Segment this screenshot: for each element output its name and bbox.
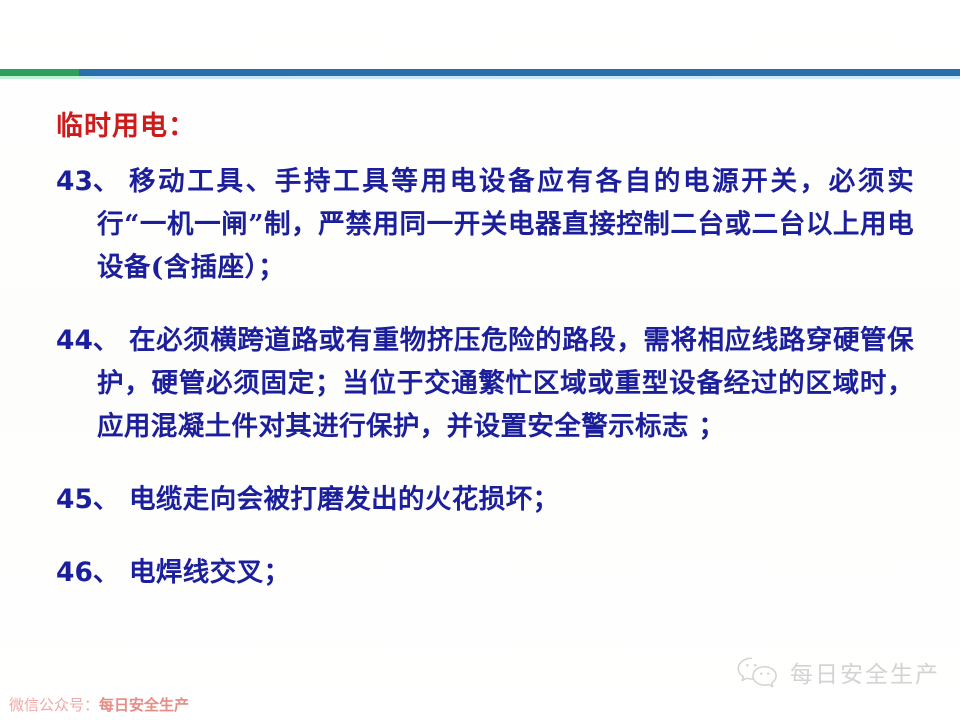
list-item-number: 46、 — [56, 551, 119, 594]
list-item-text: 电焊线交叉； — [52, 551, 914, 594]
section-heading: 临时用电： — [56, 104, 196, 143]
slide-canvas: 临时用电： 43、 移动工具、手持工具等用电设备应有各自的电源开关，必须实行“一… — [0, 0, 960, 720]
list-item-number: 44、 — [56, 319, 119, 362]
list-item-text: 移动工具、手持工具等用电设备应有各自的电源开关，必须实行“一机一闸”制，严禁用同… — [52, 160, 914, 289]
header-divider — [0, 68, 960, 79]
divider-blue-segment — [0, 69, 960, 76]
wechat-icon — [735, 655, 781, 689]
list-item: 45、 电缆走向会被打磨发出的火花损坏； — [52, 478, 914, 521]
watermark-prefix: 微信公众号： — [9, 696, 99, 714]
wechat-badge: 每日安全生产 — [735, 655, 940, 689]
watermark-account-name: 每日安全生产 — [99, 696, 189, 714]
divider-green-segment — [0, 69, 79, 76]
list-item-number: 43、 — [56, 160, 119, 203]
numbered-list: 43、 移动工具、手持工具等用电设备应有各自的电源开关，必须实行“一机一闸”制，… — [52, 160, 914, 614]
divider-highlight — [0, 76, 960, 79]
list-item: 43、 移动工具、手持工具等用电设备应有各自的电源开关，必须实行“一机一闸”制，… — [52, 160, 914, 289]
list-item-text: 在必须横跨道路或有重物挤压危险的路段，需将相应线路穿硬管保护，硬管必须固定；当位… — [52, 319, 914, 448]
list-item: 44、 在必须横跨道路或有重物挤压危险的路段，需将相应线路穿硬管保护，硬管必须固… — [52, 319, 914, 448]
watermark-bottom-left: 微信公众号：每日安全生产 — [9, 694, 189, 715]
wechat-badge-label: 每日安全生产 — [790, 655, 940, 689]
list-item-number: 45、 — [56, 478, 119, 521]
list-item: 46、 电焊线交叉； — [52, 551, 914, 594]
list-item-text: 电缆走向会被打磨发出的火花损坏； — [52, 478, 914, 521]
